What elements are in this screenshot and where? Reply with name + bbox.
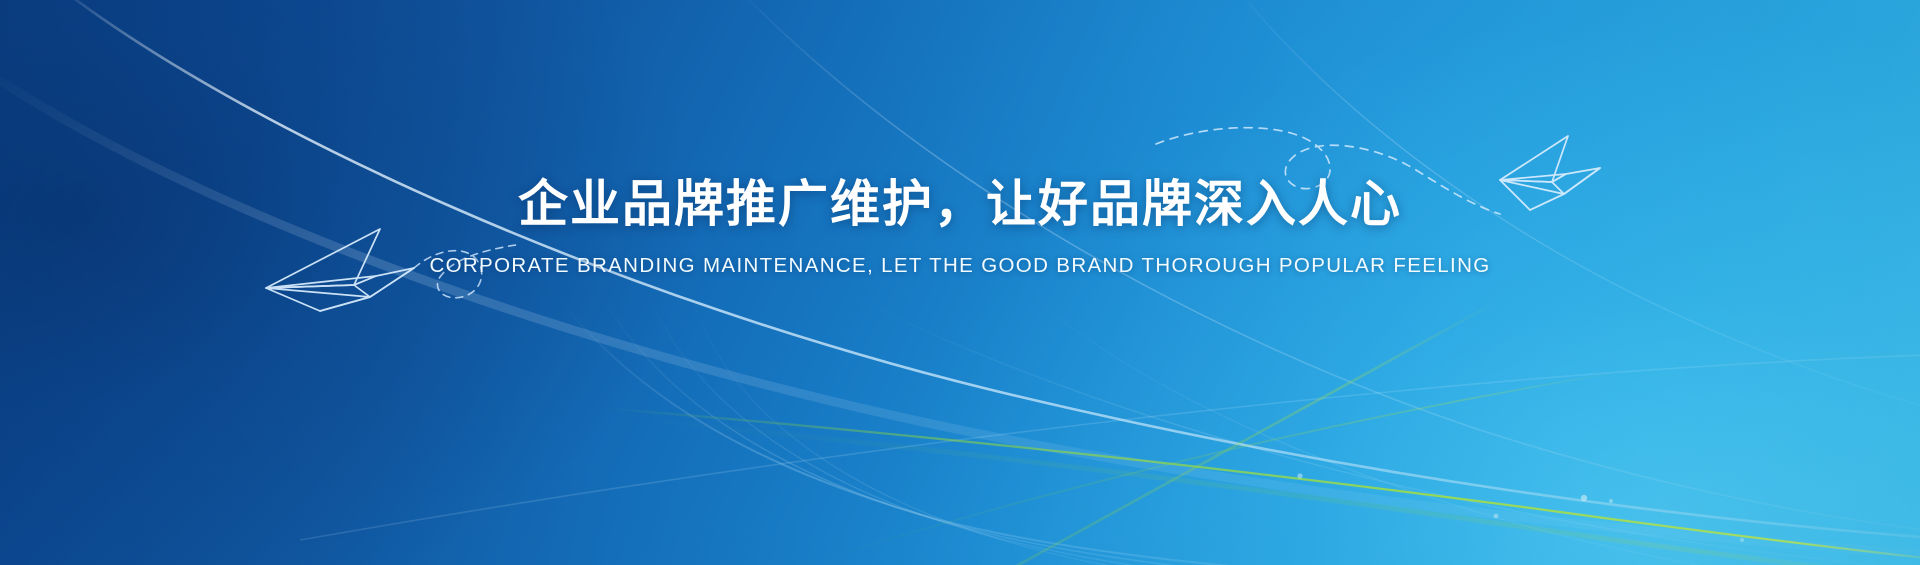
background-vignette (0, 0, 1920, 565)
hero-banner: 企业品牌推广维护，让好品牌深入人心 CORPORATE BRANDING MAI… (0, 0, 1920, 565)
page-title: 企业品牌推广维护，让好品牌深入人心 (0, 176, 1920, 232)
banner-text-block: 企业品牌推广维护，让好品牌深入人心 CORPORATE BRANDING MAI… (0, 176, 1920, 278)
page-subtitle: CORPORATE BRANDING MAINTENANCE, LET THE … (0, 254, 1920, 278)
